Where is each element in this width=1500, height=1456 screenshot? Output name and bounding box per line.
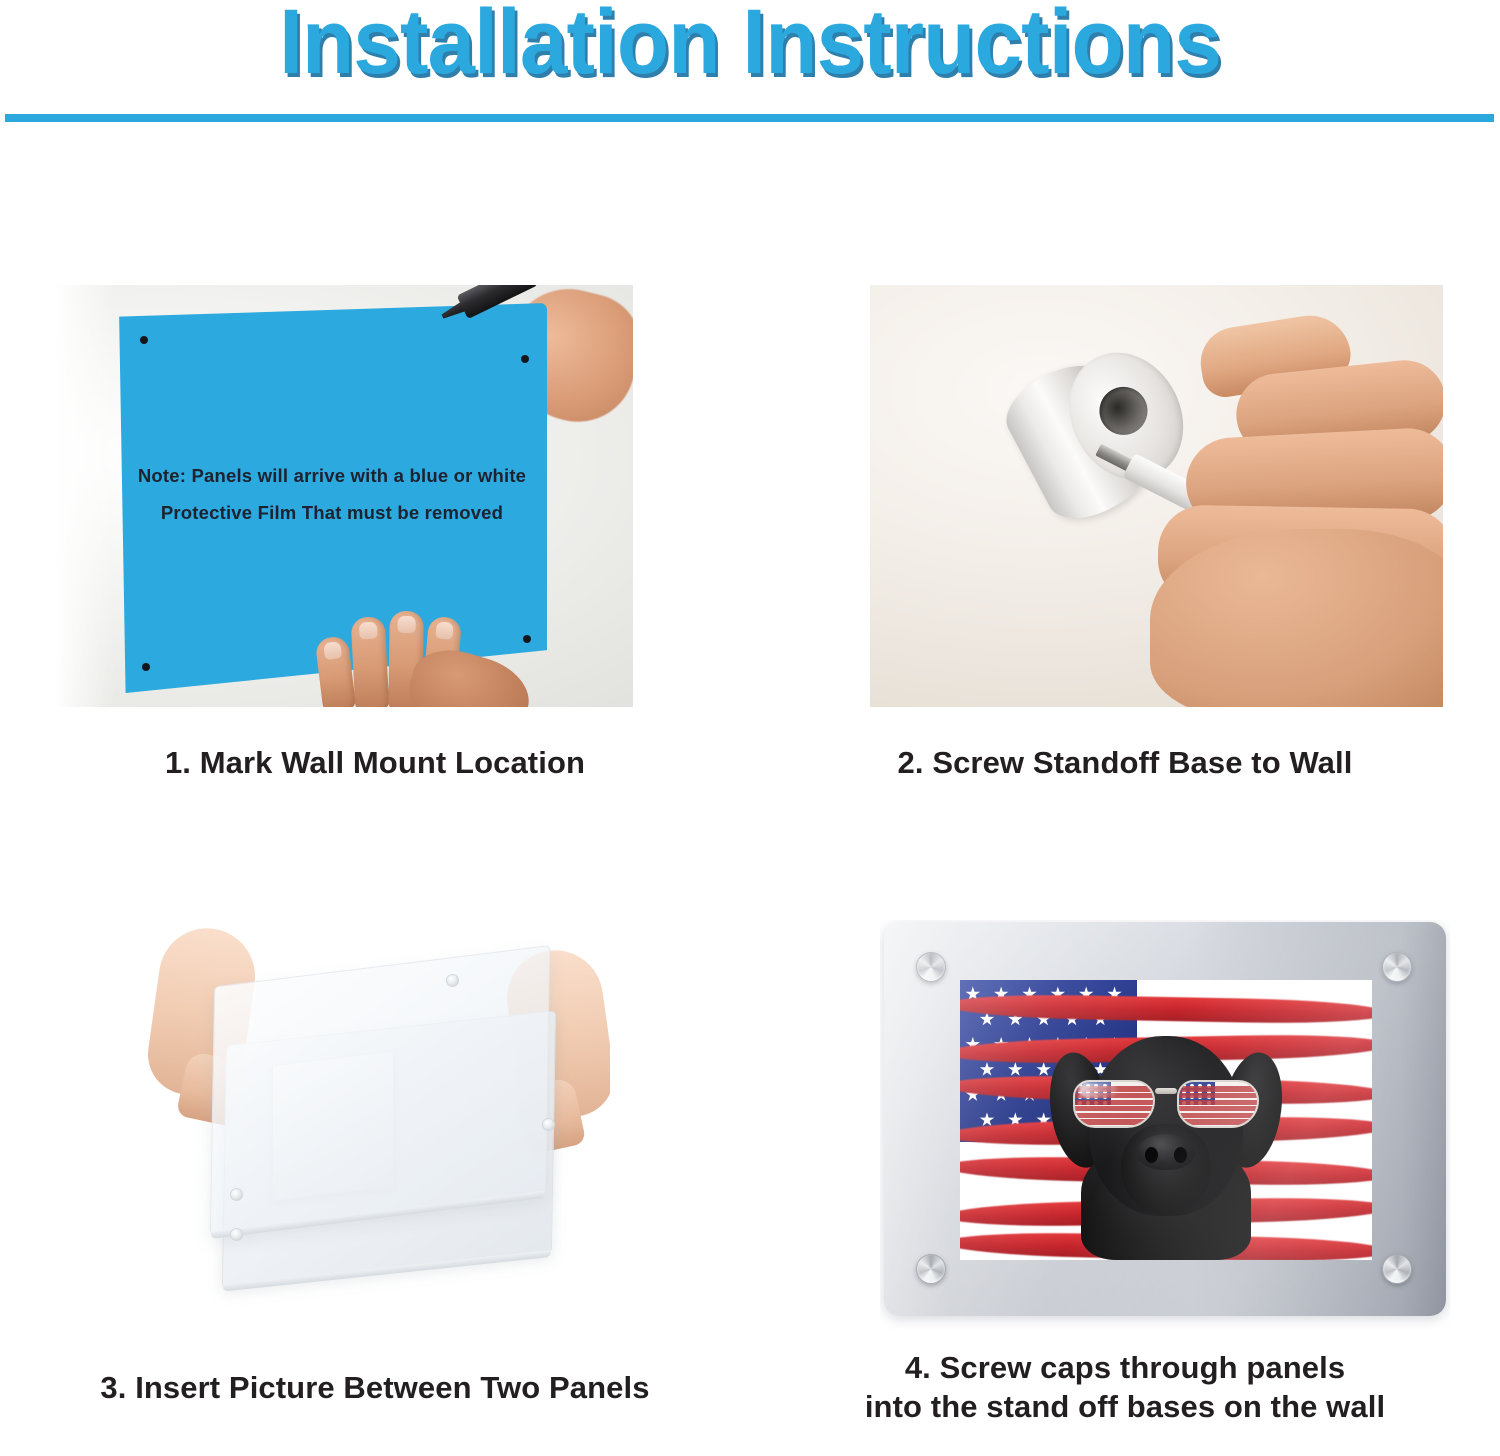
assembled-acrylic-frame xyxy=(884,922,1446,1316)
step-2: 2. Screw Standoff Base to Wall xyxy=(750,128,1500,808)
mounted-photo xyxy=(960,980,1372,1260)
title-divider-rule xyxy=(5,114,1494,122)
step-3: 3. Insert Picture Between Two Panels xyxy=(0,808,750,1456)
step-1-photo: Note: Panels will arrive with a blue or … xyxy=(55,285,633,707)
standoff-cap-bottom-right xyxy=(1382,1254,1412,1284)
step-4-caption-line-1: 4. Screw caps through panels xyxy=(750,1348,1500,1387)
lens-stripe xyxy=(1075,1106,1153,1111)
note-line-1: Note: Panels will arrive with a blue or … xyxy=(117,457,547,494)
mounting-hole-top-left xyxy=(140,336,148,344)
wall-light-falloff xyxy=(55,285,115,707)
standoff-cap-top-right xyxy=(1382,952,1412,982)
flag-star xyxy=(979,1062,994,1077)
steps-grid: Note: Panels will arrive with a blue or … xyxy=(0,128,1500,1456)
lens-stripe xyxy=(1075,1113,1153,1118)
mounting-hole-top-right xyxy=(521,355,529,363)
step-1: Note: Panels will arrive with a blue or … xyxy=(0,128,750,808)
lens-stripe xyxy=(1179,1100,1257,1105)
standoff-cap-top-left xyxy=(916,952,946,982)
step-4-caption: 4. Screw caps through panels into the st… xyxy=(750,1348,1500,1427)
lens-stripe xyxy=(1075,1100,1153,1105)
protective-film-note: Note: Panels will arrive with a blue or … xyxy=(117,457,547,531)
lens-stripe xyxy=(1179,1113,1257,1118)
step-4-caption-line-2: into the stand off bases on the wall xyxy=(750,1387,1500,1426)
step-3-caption: 3. Insert Picture Between Two Panels xyxy=(0,1368,750,1407)
page-title: Installation Instructions xyxy=(53,0,1448,88)
upper-acrylic-panel xyxy=(210,945,550,1235)
sunglass-lens-right xyxy=(1177,1080,1259,1128)
black-labrador-dog xyxy=(1059,1008,1273,1260)
flag-star xyxy=(1036,1062,1051,1077)
dog-nose xyxy=(1137,1134,1195,1170)
step-1-caption: 1. Mark Wall Mount Location xyxy=(0,743,750,782)
panel-hole-bottom-left-lower xyxy=(230,1228,243,1241)
note-line-2: Protective Film That must be removed xyxy=(117,494,547,531)
finger-2 xyxy=(351,616,390,707)
lens-glint xyxy=(1079,1082,1117,1098)
lens-stripe xyxy=(1179,1119,1257,1124)
finger-1 xyxy=(315,635,357,707)
lens-stripe xyxy=(1075,1119,1153,1124)
mounting-hole-bottom-right xyxy=(523,635,531,643)
flag-star xyxy=(1008,1062,1023,1077)
lens-stripe xyxy=(1179,1106,1257,1111)
hand-holding-standoff xyxy=(1066,321,1443,707)
palm xyxy=(1150,529,1443,707)
panel-hole-bottom-left xyxy=(230,1188,243,1201)
step-4-photo xyxy=(880,920,1450,1330)
panel-hole-top-right xyxy=(446,974,459,987)
hand-holding-panel xyxy=(313,601,523,707)
american-flag-sunglasses xyxy=(1073,1078,1259,1130)
page-header: Installation Instructions xyxy=(0,0,1500,128)
panel-hole-right xyxy=(542,1118,555,1131)
step-2-caption: 2. Screw Standoff Base to Wall xyxy=(750,743,1500,782)
standoff-cap-bottom-left xyxy=(916,1254,946,1284)
mounting-hole-bottom-left xyxy=(142,663,150,671)
lens-stripe xyxy=(1179,1086,1257,1091)
step-2-photo xyxy=(870,285,1443,707)
step-4: 4. Screw caps through panels into the st… xyxy=(750,808,1500,1456)
sunglass-bridge xyxy=(1155,1088,1177,1094)
lens-stripe xyxy=(1179,1093,1257,1098)
step-3-photo xyxy=(140,910,610,1322)
